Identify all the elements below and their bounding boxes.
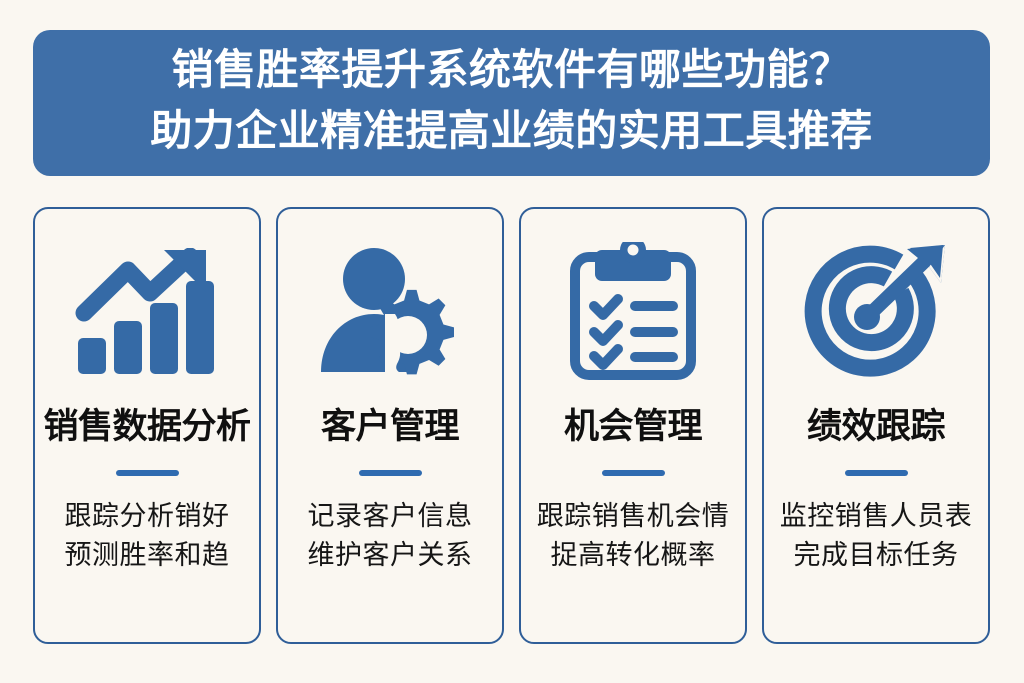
- card-title: 销售数据分析: [43, 409, 250, 444]
- card-body-line-1: 跟踪分析销好: [65, 497, 230, 536]
- card-body-line-1: 跟踪销售机会情: [537, 497, 730, 536]
- target-arrow-icon: [770, 237, 982, 387]
- feature-card-performance-tracking[interactable]: 绩效跟踪 监控销售人员表 完成目标任务: [762, 207, 990, 644]
- user-gear-icon: [284, 237, 496, 387]
- card-divider: [845, 470, 908, 476]
- card-body-line-2: 完成目标任务: [780, 536, 973, 575]
- header-title-line-1: 销售胜率提升系统软件有哪些功能？: [171, 39, 851, 100]
- feature-cards-row: 销售数据分析 跟踪分析销好 预测胜率和趋: [33, 207, 990, 644]
- card-body-line-1: 监控销售人员表: [780, 497, 973, 536]
- clipboard-checklist-icon: [527, 237, 739, 387]
- card-title: 机会管理: [564, 409, 702, 444]
- feature-card-opportunity-management[interactable]: 机会管理 跟踪销售机会情 捉高转化概率: [519, 207, 747, 644]
- card-body: 记录客户信息 维护客户关系: [308, 497, 473, 575]
- card-body: 跟踪销售机会情 捉高转化概率: [537, 497, 730, 575]
- card-title: 客户管理: [321, 409, 459, 444]
- header-banner: 销售胜率提升系统软件有哪些功能？ 助力企业精准提高业绩的实用工具推荐: [33, 30, 990, 176]
- feature-card-customer-management[interactable]: 客户管理 记录客户信息 维护客户关系: [276, 207, 504, 644]
- card-body-line-2: 维护客户关系: [308, 536, 473, 575]
- card-body-line-2: 预测胜率和趋: [65, 536, 230, 575]
- feature-card-sales-data-analysis[interactable]: 销售数据分析 跟踪分析销好 预测胜率和趋: [33, 207, 261, 644]
- card-body: 跟踪分析销好 预测胜率和趋: [65, 497, 230, 575]
- growth-chart-icon: [41, 237, 253, 387]
- card-body-line-2: 捉高转化概率: [537, 536, 730, 575]
- card-body-line-1: 记录客户信息: [308, 497, 473, 536]
- card-divider: [602, 470, 665, 476]
- card-divider: [116, 470, 179, 476]
- infographic-poster: 销售胜率提升系统软件有哪些功能？ 助力企业精准提高业绩的实用工具推荐 销售: [0, 0, 1024, 683]
- card-title: 绩效跟踪: [807, 409, 945, 444]
- header-title-line-2: 助力企业精准提高业绩的实用工具推荐: [150, 100, 873, 161]
- card-divider: [359, 470, 422, 476]
- card-body: 监控销售人员表 完成目标任务: [780, 497, 973, 575]
